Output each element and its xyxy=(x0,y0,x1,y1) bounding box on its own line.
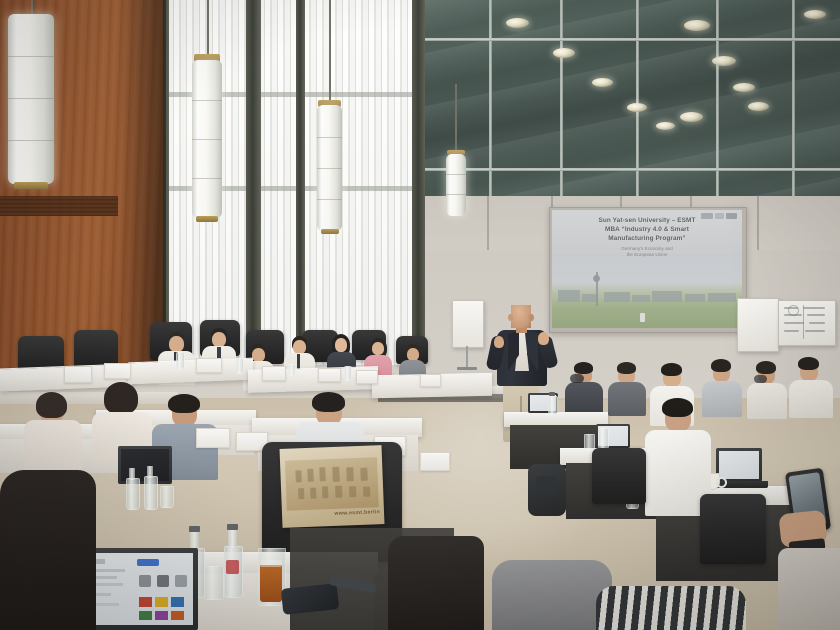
flipchart-right-blank xyxy=(737,298,779,352)
bottle-cap xyxy=(549,392,555,396)
person-head xyxy=(372,342,384,355)
bottle-neck xyxy=(228,528,237,548)
slide-title-line-1: Sun Yat-sen University – ESMT xyxy=(562,216,732,225)
slide-background-photo xyxy=(552,254,742,328)
audience-hair xyxy=(168,394,200,413)
ceiling-spot-reflection xyxy=(506,18,529,28)
person-head xyxy=(169,336,184,352)
drinking-glass xyxy=(288,364,296,376)
window-mullion xyxy=(296,0,305,360)
bottle-neck xyxy=(147,466,153,478)
lamp-cord xyxy=(455,84,457,152)
bottle-cap xyxy=(227,524,238,530)
bottle-label xyxy=(226,560,239,574)
slide-title: Sun Yat-sen University – ESMT MBA “Indus… xyxy=(562,216,732,244)
ceiling-spot-reflection xyxy=(553,48,575,58)
glass-frame xyxy=(792,0,795,202)
ceiling-spot-reflection xyxy=(748,102,769,111)
foreground-person-silhouette xyxy=(388,536,484,630)
name-card xyxy=(196,358,222,373)
poster-building-drawing xyxy=(285,457,379,510)
chair xyxy=(700,494,766,564)
name-card xyxy=(262,366,286,381)
glass-frame xyxy=(489,0,492,214)
person-head xyxy=(212,332,226,347)
water-bottle xyxy=(176,352,185,370)
ceiling-spot-reflection xyxy=(684,20,710,31)
panel-seam xyxy=(757,196,759,256)
audience-body xyxy=(789,380,833,418)
flipchart-right-notes xyxy=(778,300,836,346)
name-card xyxy=(420,374,441,387)
audience-body xyxy=(608,382,646,416)
pendant-lamp xyxy=(317,105,342,231)
person-head xyxy=(293,340,306,354)
tv-tower-sphere xyxy=(593,275,600,282)
wood-wall-shadow xyxy=(120,0,166,372)
ceiling-spot-reflection xyxy=(733,83,755,92)
name-card xyxy=(104,363,131,379)
pendant-lamp xyxy=(192,60,222,218)
drinking-glass xyxy=(584,434,595,450)
slide-title-line-2: MBA “Industry 4.0 & Smart xyxy=(562,225,732,234)
audience-body xyxy=(747,383,787,419)
water-bottle xyxy=(144,476,158,510)
bottle-neck xyxy=(129,468,135,480)
amber-drink xyxy=(260,565,282,602)
audience-hair xyxy=(662,398,693,417)
water-bottle xyxy=(598,428,609,450)
presenter-hand-left xyxy=(494,336,504,348)
foreground-person-silhouette xyxy=(0,470,96,630)
window-mullion xyxy=(412,0,426,352)
glass-frame xyxy=(716,0,719,206)
person-head xyxy=(335,338,347,352)
wood-baseboard xyxy=(0,196,118,216)
person-arm-foreground xyxy=(778,548,840,630)
water-bottle xyxy=(548,396,558,415)
presenter-head xyxy=(511,305,531,328)
name-card xyxy=(196,428,230,448)
face-mask xyxy=(754,375,767,383)
lamp-cap xyxy=(196,216,218,222)
ceiling-spot-reflection xyxy=(656,122,675,130)
lamp-cap xyxy=(14,182,48,189)
ceiling-spot-reflection xyxy=(592,78,613,87)
step-edge xyxy=(0,392,178,404)
glass-frame xyxy=(425,38,840,41)
audience-hair xyxy=(312,392,345,412)
chair xyxy=(592,448,646,504)
window-mullion xyxy=(246,0,261,372)
audience-body xyxy=(702,381,742,417)
presenter-hand-right xyxy=(538,332,549,345)
ceiling-spot-reflection xyxy=(712,56,736,66)
ceiling-spot-reflection xyxy=(627,103,647,112)
slide-subtitle: Germany’s Economy and the European Union xyxy=(570,246,724,259)
audience-hair xyxy=(756,361,776,374)
name-card xyxy=(356,370,378,384)
audience-body xyxy=(565,382,603,416)
water-bottle xyxy=(236,358,244,374)
water-bottle xyxy=(126,478,140,510)
drinking-glass xyxy=(160,486,174,508)
lamp-cap xyxy=(321,229,339,234)
backpack-pocket xyxy=(536,476,556,492)
flipchart-leg xyxy=(466,346,468,368)
lamp-cord xyxy=(329,0,331,102)
flipchart-foot xyxy=(457,367,477,370)
ceiling-spot-reflection xyxy=(680,112,703,122)
drink-foam xyxy=(260,560,282,567)
slide-title-line-3: Manufacturing Program” xyxy=(562,234,732,243)
audience-hair xyxy=(711,359,731,372)
bottle-neck xyxy=(190,530,199,550)
slide-subtitle-line-2: the European Union xyxy=(570,252,724,258)
presenter-ear xyxy=(529,314,534,321)
esmt-poster: www.esmt.berlin xyxy=(280,445,385,528)
person-head xyxy=(252,348,265,362)
bottle-cap xyxy=(189,526,200,532)
audience-hair xyxy=(574,362,593,374)
name-card xyxy=(420,452,450,471)
panel-seam xyxy=(487,196,489,256)
water-bottle xyxy=(344,366,352,381)
flipchart-left xyxy=(452,300,484,348)
face-mask xyxy=(570,374,584,383)
striped-shirt-foreground xyxy=(596,586,746,630)
audience-hair xyxy=(661,363,682,376)
lamp-cord xyxy=(207,0,209,56)
audience-hair xyxy=(798,357,819,370)
name-card xyxy=(64,366,92,383)
foreground-person-silhouette xyxy=(492,560,612,630)
name-card xyxy=(318,368,341,382)
field-marker xyxy=(640,313,645,322)
classroom-photo: Sun Yat-sen University – ESMT MBA “Indus… xyxy=(0,0,840,630)
ceiling-spot-reflection xyxy=(804,10,826,19)
drinking-glass xyxy=(204,566,224,600)
projection-screen: Sun Yat-sen University – ESMT MBA “Indus… xyxy=(552,210,742,328)
pendant-lamp xyxy=(446,154,466,216)
pendant-lamp xyxy=(8,14,54,184)
presenter-ear xyxy=(508,314,513,321)
audience-body xyxy=(24,420,82,474)
cup-handle xyxy=(716,477,727,488)
audience-hair xyxy=(617,362,636,374)
audience-hair-long xyxy=(36,392,67,418)
glass-frame xyxy=(425,168,840,171)
glass-frame xyxy=(560,0,563,214)
poster-url: www.esmt.berlin xyxy=(316,509,380,517)
audience-hair-long xyxy=(104,382,138,414)
